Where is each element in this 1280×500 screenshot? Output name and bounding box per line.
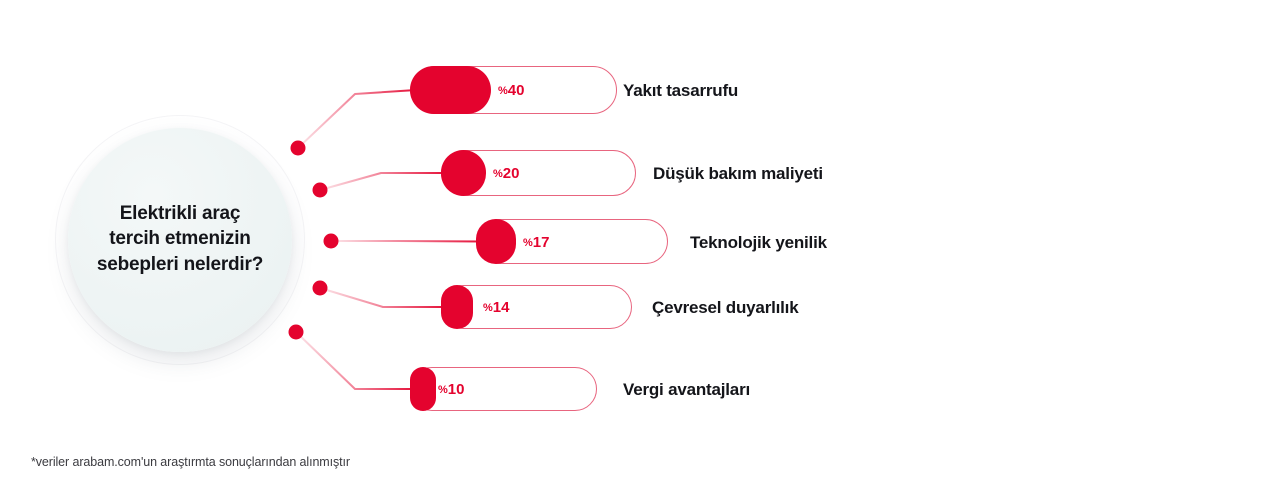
percent-number: 10	[448, 381, 465, 398]
hub-question-title: Elektrikli araç tercih etmenizin sebeple…	[97, 201, 263, 280]
connector-dot[interactable]	[313, 183, 328, 198]
footnote-source-note: *veriler arabam.com'un araştırmta sonuçl…	[31, 455, 350, 469]
connector-line	[320, 288, 447, 307]
connector-dot[interactable]	[313, 281, 328, 296]
bar-value-label: %17	[523, 235, 549, 251]
connector-line	[298, 90, 416, 148]
bar-fill	[410, 66, 491, 114]
hub-circle: Elektrikli araç tercih etmenizin sebeple…	[68, 128, 292, 352]
bar-fill	[441, 285, 473, 329]
bar-value-label: %14	[483, 300, 509, 316]
percent-symbol: %	[523, 237, 533, 249]
bar-category-label: Yakıt tasarrufu	[623, 82, 738, 99]
connector-line	[296, 332, 416, 389]
percent-number: 14	[493, 299, 510, 316]
percent-symbol: %	[483, 302, 493, 314]
bar-category-label: Vergi avantajları	[623, 381, 750, 398]
connector-line	[320, 173, 447, 190]
bar-category-label: Düşük bakım maliyeti	[653, 165, 823, 182]
connector-dot[interactable]	[291, 141, 306, 156]
bar-value-label: %40	[498, 83, 524, 99]
bar-fill	[410, 367, 436, 411]
connector-dot[interactable]	[289, 325, 304, 340]
percent-number: 40	[508, 82, 525, 99]
bar-value-label: %10	[438, 382, 464, 398]
connector-dot[interactable]	[324, 234, 339, 249]
bar-fill	[476, 219, 516, 264]
percent-symbol: %	[438, 384, 448, 396]
bar-category-label: Çevresel duyarlılık	[652, 299, 798, 316]
percent-symbol: %	[493, 168, 503, 180]
connector-line	[331, 241, 482, 242]
percent-symbol: %	[498, 85, 508, 97]
bar-value-label: %20	[493, 166, 519, 182]
bar-category-label: Teknolojik yenilik	[690, 234, 827, 251]
connector-paths	[296, 90, 482, 389]
bar-fill	[441, 150, 486, 196]
percent-number: 17	[533, 234, 550, 251]
infographic-canvas: Elektrikli araç tercih etmenizin sebeple…	[0, 0, 1280, 500]
percent-number: 20	[503, 165, 520, 182]
